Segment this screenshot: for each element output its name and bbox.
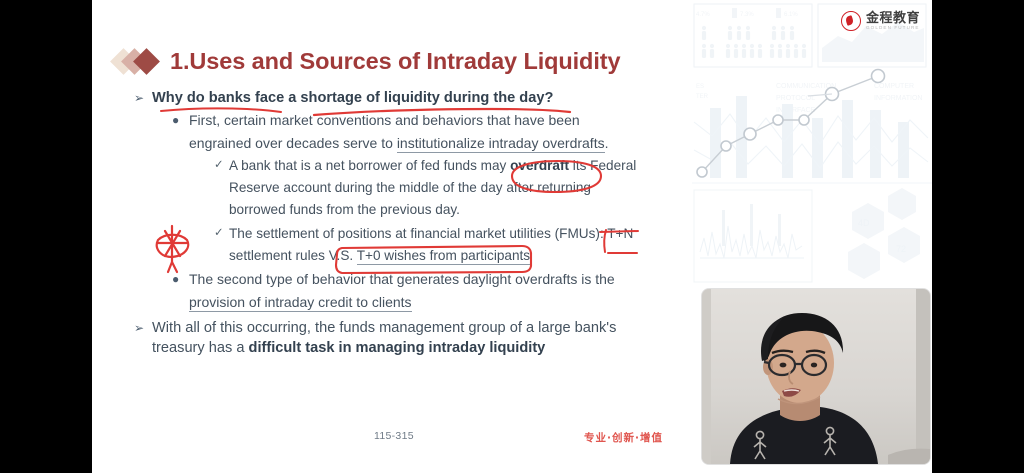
outline-text: treasury has a difficult task in managin…	[152, 338, 694, 358]
check-bullet-icon: ✓	[214, 155, 229, 176]
svg-text:4.7%: 4.7%	[696, 12, 710, 18]
page-title: 1.Uses and Sources of Intraday Liquidity	[170, 48, 620, 75]
emphasis-bold-phrase: difficult task in managing intraday liqu…	[249, 340, 546, 356]
svg-text:ES: ES	[696, 84, 704, 90]
outline-text: settlement rules V.S. T+0 wishes from pa…	[229, 245, 694, 266]
svg-text:COMPUTER: COMPUTER	[874, 83, 914, 90]
logo-text: 金程教育 GOLDEN FUTURE	[866, 12, 920, 31]
svg-text:72: 72	[896, 244, 906, 254]
letterbox-right	[932, 0, 1024, 473]
letterbox-left	[0, 0, 92, 473]
arrow-bullet-icon: ➢	[134, 318, 152, 338]
outline-text: Why do banks face a shortage of liquidit…	[152, 88, 694, 108]
outline-text: provision of intraday credit to clients	[189, 292, 694, 313]
outline-item-l2-second-cont: provision of intraday credit to clients	[189, 292, 694, 313]
outline-item-l3-settlement: ✓ The settlement of positions at financi…	[214, 223, 694, 244]
outline-text: A bank that is a net borrower of fed fun…	[229, 155, 694, 176]
logo-name-cn: 金程教育	[866, 12, 920, 25]
logo-name-en: GOLDEN FUTURE	[866, 26, 920, 31]
round-bullet-icon: ●	[172, 269, 189, 290]
presentation-slide: 4.7% 7.3% 6.1% ES TER COMMUNICATION PROT…	[92, 0, 932, 473]
outline-item-l1-question: ➢ Why do banks face a shortage of liquid…	[134, 88, 694, 108]
slide-title-row: 1.Uses and Sources of Intraday Liquidity	[114, 46, 620, 76]
decorative-background-art: 4.7% 7.3% 6.1% ES TER COMMUNICATION PROT…	[692, 0, 932, 285]
svg-text:7.3%: 7.3%	[740, 12, 754, 18]
underlined-phrase: institutionalize intraday overdrafts	[397, 135, 605, 153]
outline-text: With all of this occurring, the funds ma…	[152, 318, 694, 338]
underlined-phrase: T+0 wishes from participants	[357, 248, 530, 265]
outline-item-l1-summary: ➢ With all of this occurring, the funds …	[134, 318, 694, 338]
page-number: 115-315	[374, 430, 414, 442]
outline-text: Reserve account during the middle of the…	[229, 177, 694, 198]
outline-item-l2-second: ● The second type of behavior that gener…	[172, 269, 694, 290]
emphasis-overdraft: overdraft	[510, 158, 569, 173]
slide-body: ➢ Why do banks face a shortage of liquid…	[114, 88, 694, 358]
underlined-phrase: provision of intraday credit to clients	[189, 294, 412, 312]
presenter-webcam[interactable]	[702, 289, 930, 464]
diamond-bullet-icon	[114, 46, 170, 76]
outline-item-l2-first: ● First, certain market conventions and …	[172, 110, 694, 131]
logo-emblem-icon	[841, 11, 861, 31]
outline-text: engrained over decades serve to institut…	[189, 133, 694, 154]
svg-text:4D: 4D	[858, 218, 870, 228]
outline-item-l3-bank: ✓ A bank that is a net borrower of fed f…	[214, 155, 694, 176]
svg-text:6.1%: 6.1%	[784, 12, 798, 18]
svg-text:TER: TER	[696, 94, 709, 100]
outline-item-l3-bank-cont2: borrowed funds from the previous day.	[229, 199, 694, 220]
brand-logo: 金程教育 GOLDEN FUTURE	[841, 11, 920, 31]
video-frame: 4.7% 7.3% 6.1% ES TER COMMUNICATION PROT…	[0, 0, 1024, 473]
round-bullet-icon: ●	[172, 110, 189, 131]
outline-text: borrowed funds from the previous day.	[229, 199, 694, 220]
check-bullet-icon: ✓	[214, 223, 229, 244]
svg-text:INFORMATION: INFORMATION	[874, 95, 922, 102]
outline-text: First, certain market conventions and be…	[189, 110, 694, 131]
outline-item-l3-bank-cont1: Reserve account during the middle of the…	[229, 177, 694, 198]
brand-slogan: 专业·创新·增值	[584, 430, 663, 445]
outline-text: The settlement of positions at financial…	[229, 223, 694, 244]
outline-item-l2-first-cont: engrained over decades serve to institut…	[189, 133, 694, 154]
svg-text:INTERFACE: INTERFACE	[776, 107, 816, 114]
arrow-bullet-icon: ➢	[134, 88, 152, 108]
outline-text: The second type of behavior that generat…	[189, 269, 694, 290]
outline-item-l3-settlement-cont: settlement rules V.S. T+0 wishes from pa…	[229, 245, 694, 266]
outline-item-l1-summary-cont: treasury has a difficult task in managin…	[152, 338, 694, 358]
